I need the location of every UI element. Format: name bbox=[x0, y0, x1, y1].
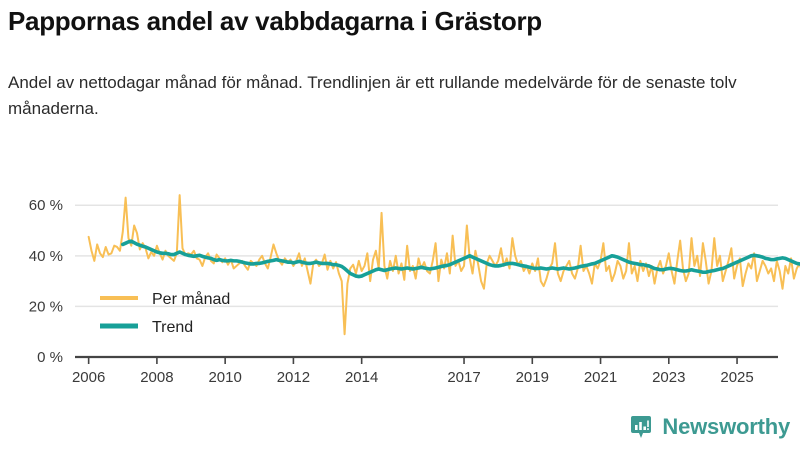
svg-text:2014: 2014 bbox=[345, 369, 378, 386]
svg-text:Per månad: Per månad bbox=[152, 290, 230, 308]
svg-text:2012: 2012 bbox=[277, 369, 310, 386]
chart-page: Pappornas andel av vabbdagarna i Grästor… bbox=[0, 0, 800, 450]
x-axis-tick-labels: 2006200820102012201420172019202120232025 bbox=[72, 369, 754, 386]
y-axis-tick-labels: 0 %20 %40 %60 % bbox=[29, 197, 63, 366]
svg-text:2006: 2006 bbox=[72, 369, 105, 386]
svg-text:20 %: 20 % bbox=[29, 298, 63, 315]
svg-text:2021: 2021 bbox=[584, 369, 617, 386]
newsworthy-logo[interactable]: Newsworthy bbox=[628, 414, 790, 440]
svg-text:60 %: 60 % bbox=[29, 197, 63, 214]
svg-text:2010: 2010 bbox=[208, 369, 241, 386]
chart-legend: Per månadTrend bbox=[100, 290, 230, 336]
x-axis bbox=[75, 357, 778, 364]
svg-text:2023: 2023 bbox=[652, 369, 685, 386]
bar-chart-bubble-icon bbox=[628, 414, 654, 440]
svg-text:40 %: 40 % bbox=[29, 248, 63, 265]
chart-plot: 0 %20 %40 %60 % 200620082010201220142017… bbox=[0, 0, 800, 400]
svg-text:2019: 2019 bbox=[516, 369, 549, 386]
svg-text:2017: 2017 bbox=[447, 369, 480, 386]
svg-text:2025: 2025 bbox=[720, 369, 753, 386]
svg-text:Trend: Trend bbox=[152, 319, 193, 336]
svg-text:0 %: 0 % bbox=[37, 349, 63, 366]
svg-text:2008: 2008 bbox=[140, 369, 173, 386]
logo-text: Newsworthy bbox=[662, 414, 790, 440]
